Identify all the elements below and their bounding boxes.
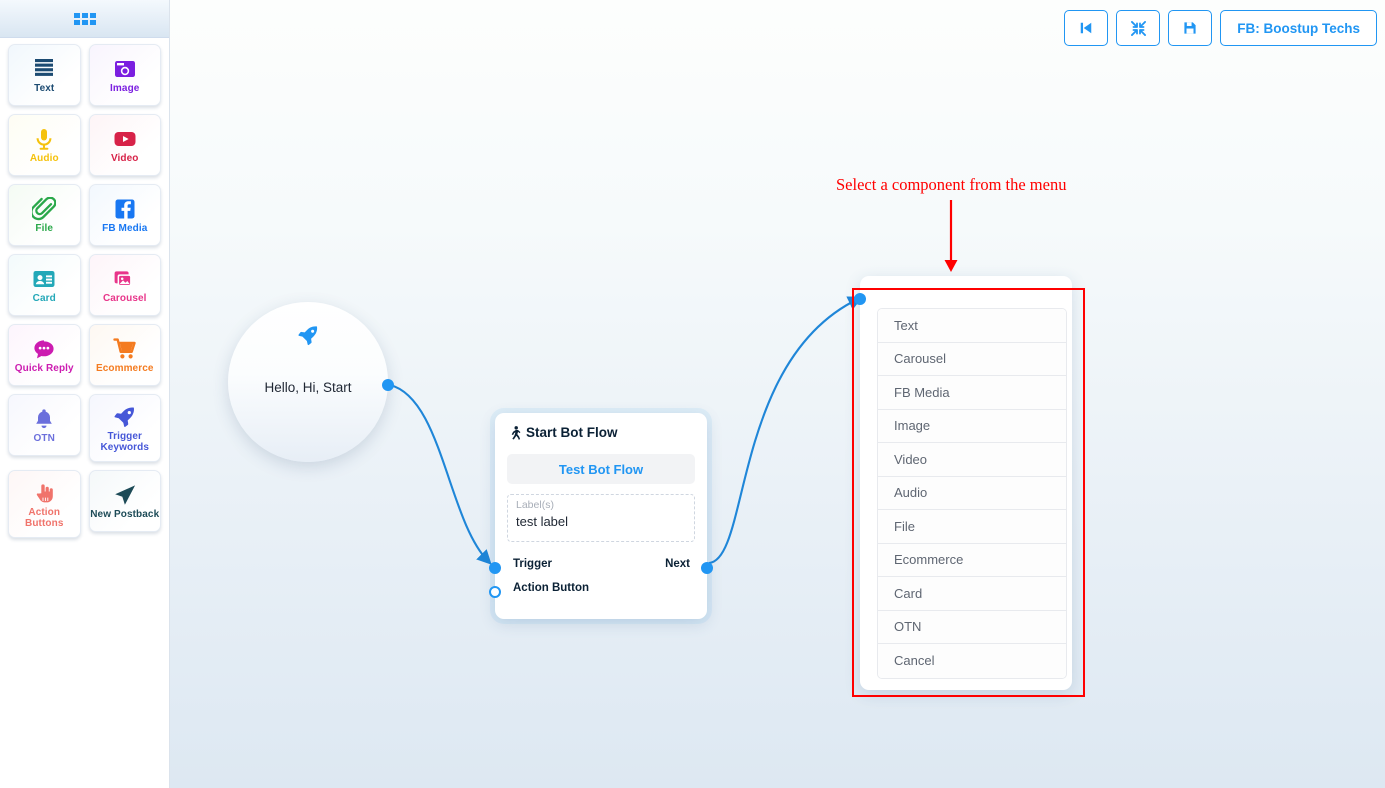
annotation-text: Select a component from the menu bbox=[836, 175, 1066, 195]
compress-button[interactable] bbox=[1116, 10, 1160, 46]
action-button-row: Action Button bbox=[495, 582, 707, 594]
tile-label: Audio bbox=[30, 153, 59, 164]
tile-label: FB Media bbox=[102, 223, 147, 234]
test-bot-flow-label: Test Bot Flow bbox=[559, 462, 643, 477]
labels-placeholder: Label(s) bbox=[516, 499, 686, 511]
sidebar-tile-card[interactable]: Card bbox=[8, 254, 81, 316]
sidebar-tile-ecommerce[interactable]: Ecommerce bbox=[89, 324, 162, 386]
trigger-input-port[interactable] bbox=[489, 562, 501, 574]
component-menu-panel[interactable]: TextCarouselFB MediaImageVideoAudioFileE… bbox=[860, 276, 1072, 690]
labels-field[interactable]: Label(s) test label bbox=[507, 494, 695, 542]
grid-icon[interactable] bbox=[74, 13, 96, 25]
sidebar-tile-audio[interactable]: Audio bbox=[8, 114, 81, 176]
bell-icon bbox=[32, 406, 56, 432]
save-button[interactable] bbox=[1168, 10, 1212, 46]
flow-node-title: Start Bot Flow bbox=[526, 425, 618, 440]
edge-start-to-trigger bbox=[390, 385, 488, 561]
microphone-icon bbox=[32, 126, 56, 152]
step-backward-button[interactable] bbox=[1064, 10, 1108, 46]
tile-label: Trigger Keywords bbox=[90, 431, 161, 453]
component-tile-grid: TextImageAudioVideoFileFB MediaCardCarou… bbox=[0, 38, 169, 538]
flow-canvas[interactable]: FB: Boostup Techs Hello, Hi, Start Star bbox=[170, 0, 1385, 788]
sidebar-tile-quick-reply[interactable]: Quick Reply bbox=[8, 324, 81, 386]
tile-label: Image bbox=[110, 83, 139, 94]
tile-label: Card bbox=[33, 293, 56, 304]
tile-label: Quick Reply bbox=[15, 363, 74, 374]
edge-next-to-menu bbox=[709, 299, 858, 563]
component-menu-list: TextCarouselFB MediaImageVideoAudioFileE… bbox=[877, 308, 1067, 679]
next-output-port[interactable] bbox=[701, 562, 713, 574]
start-node-text: Hello, Hi, Start bbox=[264, 380, 351, 395]
compress-arrows-icon bbox=[1131, 21, 1146, 36]
sidebar-tile-new-postback[interactable]: New Postback bbox=[89, 470, 162, 532]
labels-value: test label bbox=[516, 514, 686, 529]
annotation-arrow-head bbox=[945, 260, 958, 272]
sidebar-tile-action-buttons[interactable]: Action Buttons bbox=[8, 470, 81, 538]
component-menu-item-carousel[interactable]: Carousel bbox=[878, 343, 1066, 377]
component-menu-item-cancel[interactable]: Cancel bbox=[878, 644, 1066, 678]
text-lines-icon bbox=[32, 56, 56, 82]
next-label: Next bbox=[665, 558, 690, 570]
tile-label: File bbox=[35, 223, 53, 234]
sidebar-tile-trigger-keywords[interactable]: Trigger Keywords bbox=[89, 394, 162, 462]
hand-pointer-icon bbox=[32, 480, 56, 506]
action-button-label: Action Button bbox=[513, 582, 589, 594]
paper-plane-icon bbox=[113, 482, 137, 508]
floppy-disk-icon bbox=[1183, 21, 1197, 35]
chat-bubble-icon bbox=[32, 336, 56, 362]
component-menu-input-port[interactable] bbox=[854, 293, 866, 305]
paperclip-icon bbox=[32, 196, 56, 222]
page-selector-button[interactable]: FB: Boostup Techs bbox=[1220, 10, 1377, 46]
rocket-icon bbox=[113, 404, 137, 430]
component-sidebar: TextImageAudioVideoFileFB MediaCardCarou… bbox=[0, 0, 170, 788]
component-menu-item-audio[interactable]: Audio bbox=[878, 477, 1066, 511]
sidebar-tile-otn[interactable]: OTN bbox=[8, 394, 81, 456]
shopping-cart-icon bbox=[113, 336, 137, 362]
component-menu-item-ecommerce[interactable]: Ecommerce bbox=[878, 544, 1066, 578]
component-menu-item-fb-media[interactable]: FB Media bbox=[878, 376, 1066, 410]
tile-label: Ecommerce bbox=[96, 363, 154, 374]
camera-icon bbox=[113, 56, 137, 82]
tile-label: OTN bbox=[34, 433, 55, 444]
tile-label: Carousel bbox=[103, 293, 147, 304]
sidebar-tile-video[interactable]: Video bbox=[89, 114, 162, 176]
test-bot-flow-button[interactable]: Test Bot Flow bbox=[507, 454, 695, 484]
start-trigger-node[interactable]: Hello, Hi, Start bbox=[228, 302, 388, 462]
page-selector-label: FB: Boostup Techs bbox=[1237, 21, 1360, 36]
tile-label: New Postback bbox=[90, 509, 159, 520]
flow-node-header: Start Bot Flow bbox=[495, 413, 707, 440]
trigger-row: Trigger Next bbox=[495, 558, 707, 570]
rocket-icon bbox=[297, 324, 320, 352]
sidebar-tile-carousel[interactable]: Carousel bbox=[89, 254, 162, 316]
tile-label: Action Buttons bbox=[9, 507, 80, 529]
top-toolbar: FB: Boostup Techs bbox=[1064, 10, 1377, 46]
component-menu-item-text[interactable]: Text bbox=[878, 309, 1066, 343]
tile-label: Text bbox=[34, 83, 54, 94]
step-backward-icon bbox=[1079, 21, 1093, 35]
running-person-icon bbox=[508, 426, 521, 440]
images-stack-icon bbox=[113, 266, 137, 292]
sidebar-tile-file[interactable]: File bbox=[8, 184, 81, 246]
component-menu-item-card[interactable]: Card bbox=[878, 577, 1066, 611]
start-bot-flow-node[interactable]: Start Bot Flow Test Bot Flow Label(s) te… bbox=[495, 413, 707, 619]
action-button-port[interactable] bbox=[489, 586, 501, 598]
component-menu-item-video[interactable]: Video bbox=[878, 443, 1066, 477]
sidebar-tile-fb-media[interactable]: FB Media bbox=[89, 184, 162, 246]
component-menu-item-image[interactable]: Image bbox=[878, 410, 1066, 444]
component-menu-item-file[interactable]: File bbox=[878, 510, 1066, 544]
component-menu-item-otn[interactable]: OTN bbox=[878, 611, 1066, 645]
trigger-label: Trigger bbox=[513, 558, 552, 570]
app-root: TextImageAudioVideoFileFB MediaCardCarou… bbox=[0, 0, 1385, 788]
facebook-icon bbox=[113, 196, 137, 222]
id-card-icon bbox=[32, 266, 56, 292]
sidebar-tile-image[interactable]: Image bbox=[89, 44, 162, 106]
sidebar-header bbox=[0, 0, 169, 38]
start-node-output-port[interactable] bbox=[382, 379, 394, 391]
youtube-play-icon bbox=[113, 126, 137, 152]
sidebar-tile-text[interactable]: Text bbox=[8, 44, 81, 106]
tile-label: Video bbox=[111, 153, 139, 164]
